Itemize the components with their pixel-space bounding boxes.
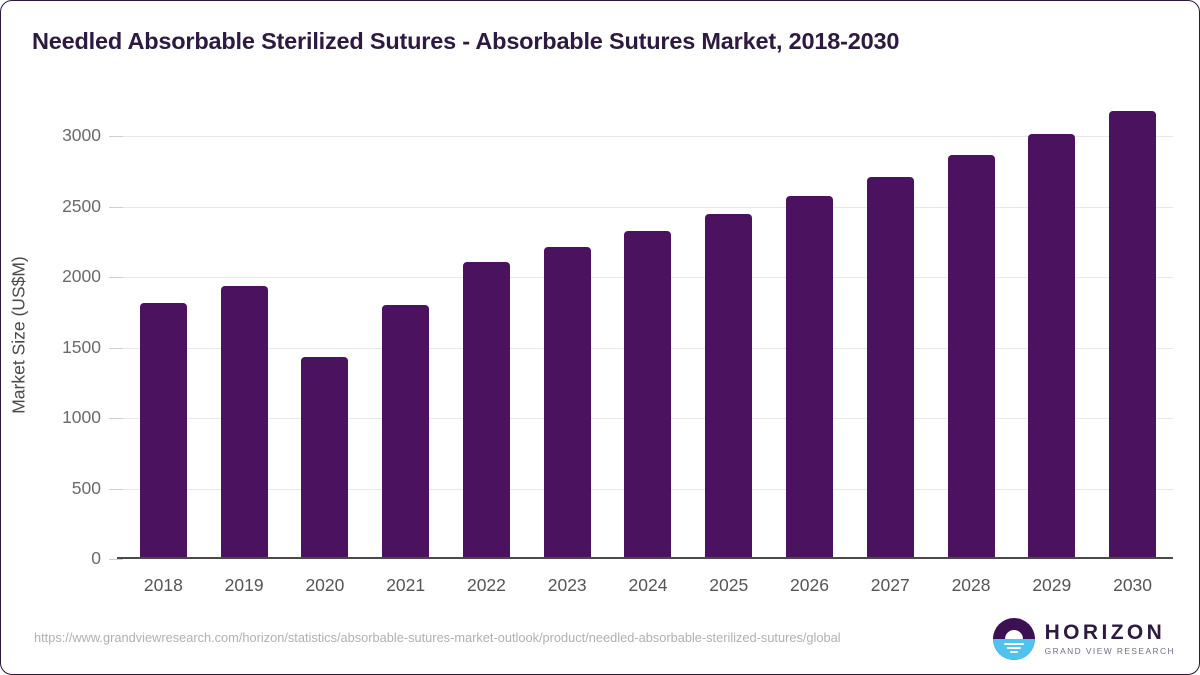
logo-subtitle: GRAND VIEW RESEARCH (1045, 646, 1175, 656)
bar[interactable] (948, 155, 995, 559)
bar[interactable] (301, 357, 348, 559)
bar-group-2029[interactable]: 2029 (1011, 111, 1092, 559)
y-axis-tick-mark (109, 277, 123, 278)
bar-group-2021[interactable]: 2021 (365, 111, 446, 559)
bar[interactable] (705, 214, 752, 559)
bar[interactable] (382, 305, 429, 559)
bar[interactable] (786, 196, 833, 559)
bar-group-2027[interactable]: 2027 (850, 111, 931, 559)
y-axis-tick-mark (109, 207, 123, 208)
plot-area: Market Size (US$M) 050010001500200025003… (123, 111, 1173, 559)
y-axis-tick-label: 1500 (62, 337, 101, 358)
bar-series: 2018201920202021202220232024202520262027… (123, 111, 1173, 559)
y-axis-tick-label: 500 (72, 478, 101, 499)
x-axis-tick-label: 2022 (467, 575, 506, 596)
bar[interactable] (1109, 111, 1156, 559)
bar[interactable] (221, 286, 268, 559)
x-axis-tick-label: 2024 (629, 575, 668, 596)
x-axis-tick-label: 2028 (952, 575, 991, 596)
y-axis-tick-mark (109, 348, 123, 349)
x-axis-tick-label: 2025 (709, 575, 748, 596)
bar[interactable] (624, 231, 671, 559)
logo-wordmark: HORIZON (1045, 622, 1175, 644)
y-axis-tick-mark (109, 559, 123, 560)
bar[interactable] (867, 177, 914, 559)
bar-group-2026[interactable]: 2026 (769, 111, 850, 559)
y-axis-tick-label: 2500 (62, 196, 101, 217)
y-axis-tick-label: 1000 (62, 407, 101, 428)
source-url[interactable]: https://www.grandviewresearch.com/horizo… (34, 629, 944, 646)
x-axis-tick-label: 2021 (386, 575, 425, 596)
bar-group-2025[interactable]: 2025 (688, 111, 769, 559)
bar-group-2018[interactable]: 2018 (123, 111, 204, 559)
y-axis-tick-mark (109, 489, 123, 490)
bar-group-2030[interactable]: 2030 (1092, 111, 1173, 559)
bar[interactable] (140, 303, 187, 559)
x-axis-tick-label: 2030 (1113, 575, 1152, 596)
x-axis-tick-label: 2020 (305, 575, 344, 596)
y-axis-tick-mark (109, 418, 123, 419)
bar-group-2024[interactable]: 2024 (608, 111, 689, 559)
x-axis-tick-label: 2026 (790, 575, 829, 596)
x-axis-line (117, 557, 1173, 559)
y-axis-tick-label: 3000 (62, 125, 101, 146)
chart-card: Needled Absorbable Sterilized Sutures - … (0, 0, 1200, 675)
x-axis-tick-label: 2027 (871, 575, 910, 596)
bar-group-2022[interactable]: 2022 (446, 111, 527, 559)
x-axis-tick-label: 2018 (144, 575, 183, 596)
bar[interactable] (544, 247, 591, 559)
x-axis-tick-label: 2029 (1032, 575, 1071, 596)
bar-group-2023[interactable]: 2023 (527, 111, 608, 559)
y-axis-title: Market Size (US$M) (9, 256, 30, 414)
x-axis-tick-label: 2023 (548, 575, 587, 596)
page-title: Needled Absorbable Sterilized Sutures - … (32, 28, 899, 55)
bar-group-2019[interactable]: 2019 (204, 111, 285, 559)
bar-group-2020[interactable]: 2020 (285, 111, 366, 559)
bar[interactable] (463, 262, 510, 559)
y-axis-tick-label: 0 (91, 548, 101, 569)
x-axis-tick-label: 2019 (225, 575, 264, 596)
horizon-logo: HORIZON GRAND VIEW RESEARCH (993, 618, 1175, 660)
y-axis-tick-label: 2000 (62, 266, 101, 287)
horizon-sun-icon (993, 618, 1035, 660)
bar[interactable] (1028, 134, 1075, 559)
bar-group-2028[interactable]: 2028 (931, 111, 1012, 559)
y-axis-tick-mark (109, 136, 123, 137)
